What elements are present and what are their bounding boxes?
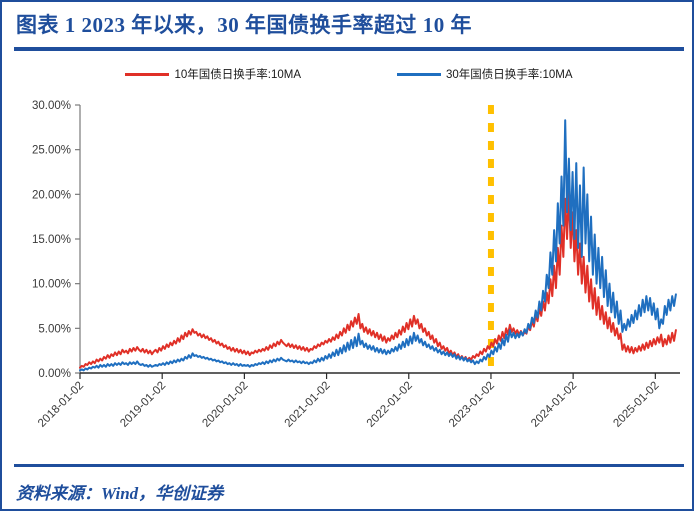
y-axis-tick-label: 30.00% <box>32 100 71 112</box>
page-title: 图表 1 2023 年以来，30 年国债换手率超过 10 年 <box>16 9 472 39</box>
y-axis-tick-label: 10.00% <box>32 279 71 291</box>
footer-divider <box>14 464 684 467</box>
line-chart: 0.00%5.00%10.00%15.00%20.00%25.00%30.00%… <box>2 52 694 462</box>
x-axis-tick-label: 2018-01-02 <box>36 380 86 430</box>
x-axis-tick-label: 2020-01-02 <box>200 380 250 430</box>
figure-title-bar: 图表 1 2023 年以来，30 年国债换手率超过 10 年 <box>2 2 692 46</box>
y-axis-tick-label: 5.00% <box>38 323 71 335</box>
x-axis-tick-label: 2025-01-02 <box>611 380 661 430</box>
header-divider <box>14 47 684 51</box>
x-axis-tick-label: 2021-01-02 <box>283 380 333 430</box>
x-axis-tick-label: 2022-01-02 <box>365 380 415 430</box>
y-axis-tick-label: 15.00% <box>32 234 71 246</box>
x-axis-tick-label: 2023-01-02 <box>447 380 497 430</box>
source-bar: 资料来源：Wind，华创证券 <box>2 472 692 510</box>
y-axis-tick-label: 20.00% <box>32 189 71 201</box>
chart-area: 10年国债日换手率:10MA 30年国债日换手率:10MA 0.00%5.00%… <box>2 52 694 462</box>
y-axis-tick-label: 0.00% <box>38 368 71 380</box>
exhibit-figure: 图表 1 2023 年以来，30 年国债换手率超过 10 年 10年国债日换手率… <box>0 0 694 511</box>
x-axis-tick-label: 2024-01-02 <box>529 380 579 430</box>
x-axis-tick-label: 2019-01-02 <box>118 380 168 430</box>
y-axis-tick-label: 25.00% <box>32 145 71 157</box>
source-note: 资料来源：Wind，华创证券 <box>16 479 223 504</box>
